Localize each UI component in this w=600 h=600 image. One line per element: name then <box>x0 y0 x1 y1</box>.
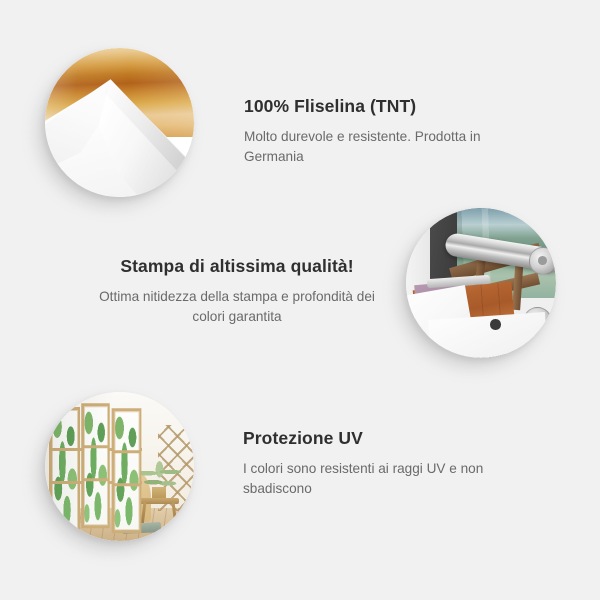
printing-press-photo-inner <box>406 208 556 358</box>
tropical-room-divider-photo-inner <box>45 392 194 541</box>
feature-heading: 100% Fliselina (TNT) <box>244 96 504 118</box>
screen-panel-3 <box>112 408 142 533</box>
feature-body: Molto durevole e resistente. Prodotta in… <box>244 127 504 167</box>
feature-text-fliselina: 100% Fliselina (TNT) Molto durevole e re… <box>244 96 504 167</box>
feature-body: Ottima nitidezza della stampa e profondi… <box>86 287 388 327</box>
peeling-wallpaper-photo <box>45 48 194 197</box>
peeling-wallpaper-photo-inner <box>45 48 194 197</box>
printing-press-photo <box>406 208 556 358</box>
feature-highlights-panel: 100% Fliselina (TNT) Molto durevole e re… <box>0 0 600 600</box>
tropical-folding-screen <box>49 407 141 532</box>
feature-heading: Protezione UV <box>243 428 513 450</box>
press-wheel-upper <box>529 247 556 275</box>
press-knob <box>490 319 501 330</box>
tropical-room-divider-photo <box>45 392 194 541</box>
screen-panel-1 <box>49 407 80 532</box>
screen-panel-2 <box>81 403 109 528</box>
feature-heading: Stampa di altissima qualità! <box>86 256 388 278</box>
feature-text-protezione-uv: Protezione UV I colori sono resistenti a… <box>243 428 513 499</box>
feature-text-stampa-qualita: Stampa di altissima qualità! Ottima niti… <box>86 256 388 327</box>
feature-body: I colori sono resistenti ai raggi UV e n… <box>243 459 513 499</box>
press-output-sheet-secondary <box>428 312 549 358</box>
